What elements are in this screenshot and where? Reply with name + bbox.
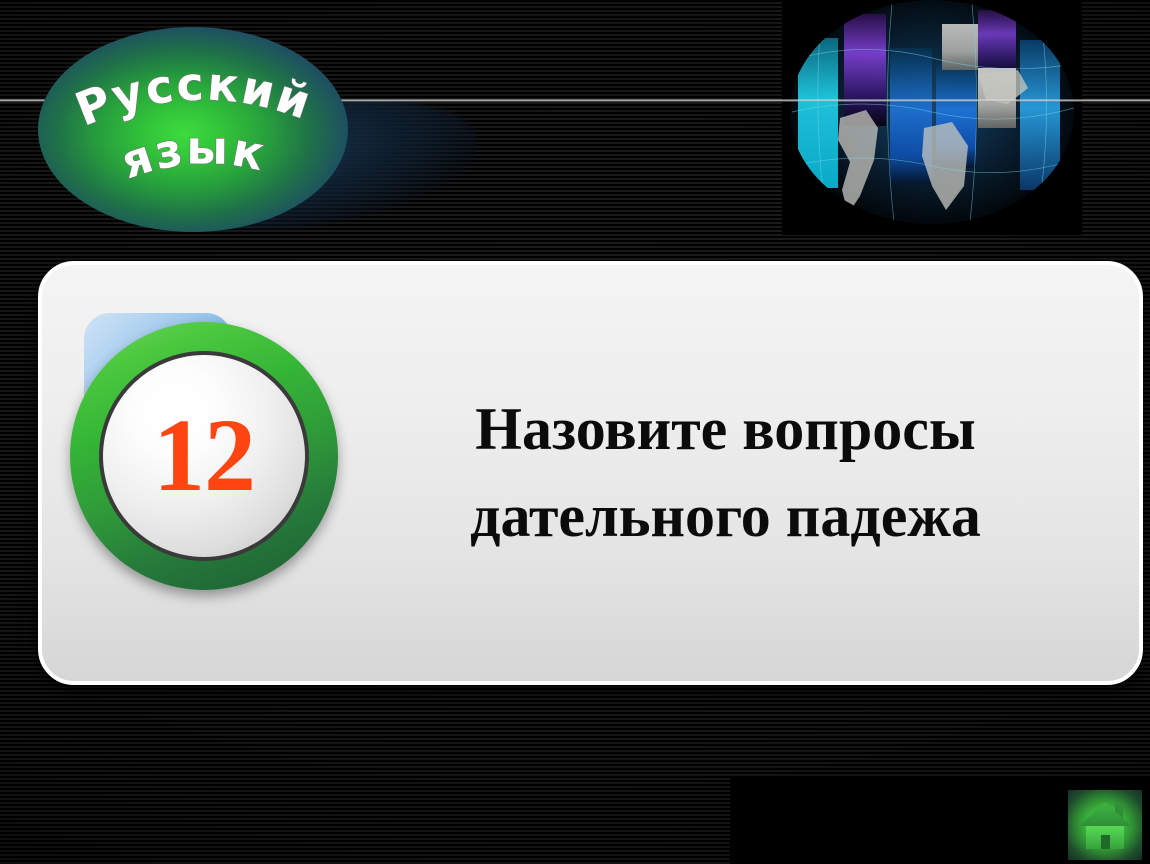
question-number-label: 12 bbox=[153, 404, 255, 508]
world-map-graphic bbox=[782, 0, 1082, 235]
question-text-area: Назовите вопросы дательного падежа bbox=[342, 386, 1139, 560]
home-icon bbox=[1077, 799, 1133, 851]
question-card: 12 Назовите вопросы дательного падежа bbox=[38, 261, 1143, 685]
subject-title-text: Русский язык bbox=[38, 27, 348, 232]
question-number-badge: 12 bbox=[42, 265, 342, 681]
question-text: Назовите вопросы дательного падежа bbox=[376, 386, 1076, 560]
slide-canvas: Русский язык 12 Назовите вопросы дательн… bbox=[0, 0, 1150, 864]
badge-silver-face: 12 bbox=[103, 355, 305, 557]
subject-title-line-2: язык bbox=[114, 120, 270, 189]
home-button[interactable] bbox=[1068, 790, 1142, 860]
